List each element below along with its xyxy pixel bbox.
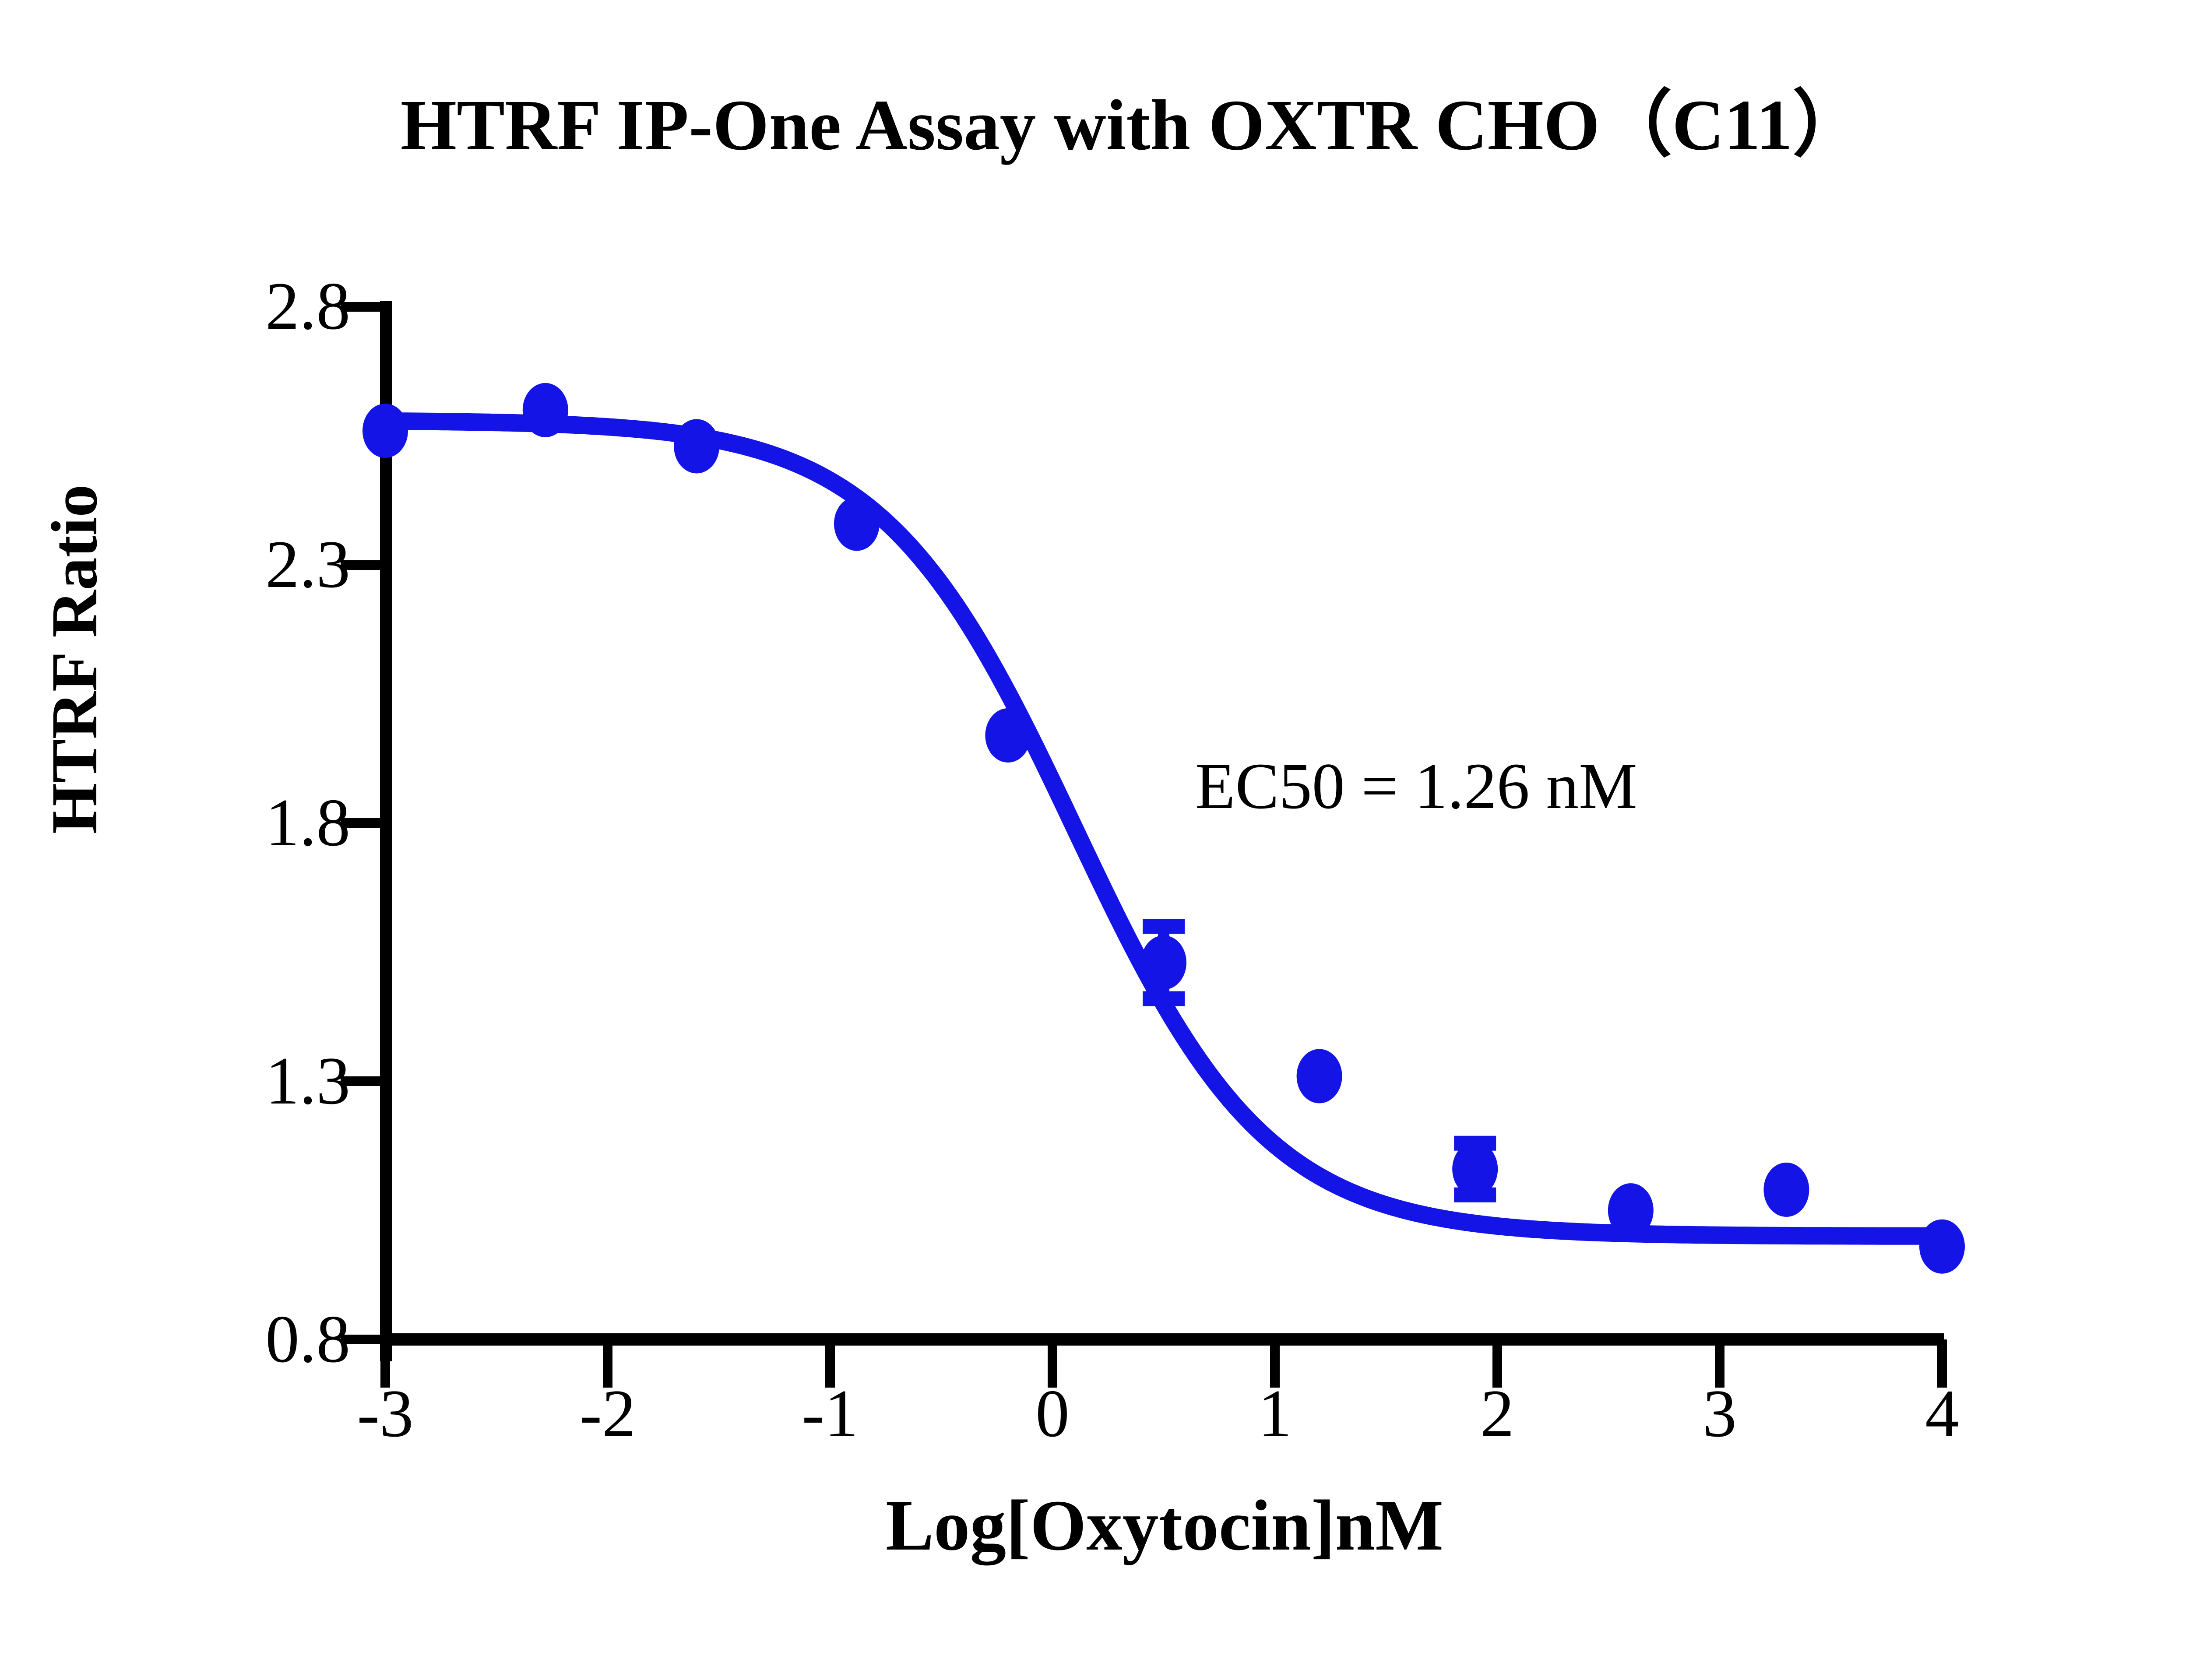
data-point	[1452, 1142, 1498, 1196]
data-point	[1919, 1220, 1965, 1274]
x-ticks	[385, 1339, 1942, 1388]
data-markers	[362, 383, 1965, 1274]
plot-canvas	[0, 0, 2189, 1680]
y-ticks	[341, 307, 386, 1339]
data-point	[985, 708, 1031, 763]
data-point	[1763, 1163, 1809, 1217]
data-point	[523, 383, 568, 437]
data-point	[834, 496, 880, 551]
data-point	[674, 419, 719, 473]
chart-figure: HTRF IP-One Assay with OXTR CHO（C11） HTR…	[0, 0, 2189, 1680]
data-point	[1141, 935, 1186, 990]
data-point	[1297, 1049, 1342, 1103]
fit-curve	[385, 421, 1942, 1236]
data-point	[1608, 1183, 1654, 1237]
data-point	[362, 404, 408, 458]
